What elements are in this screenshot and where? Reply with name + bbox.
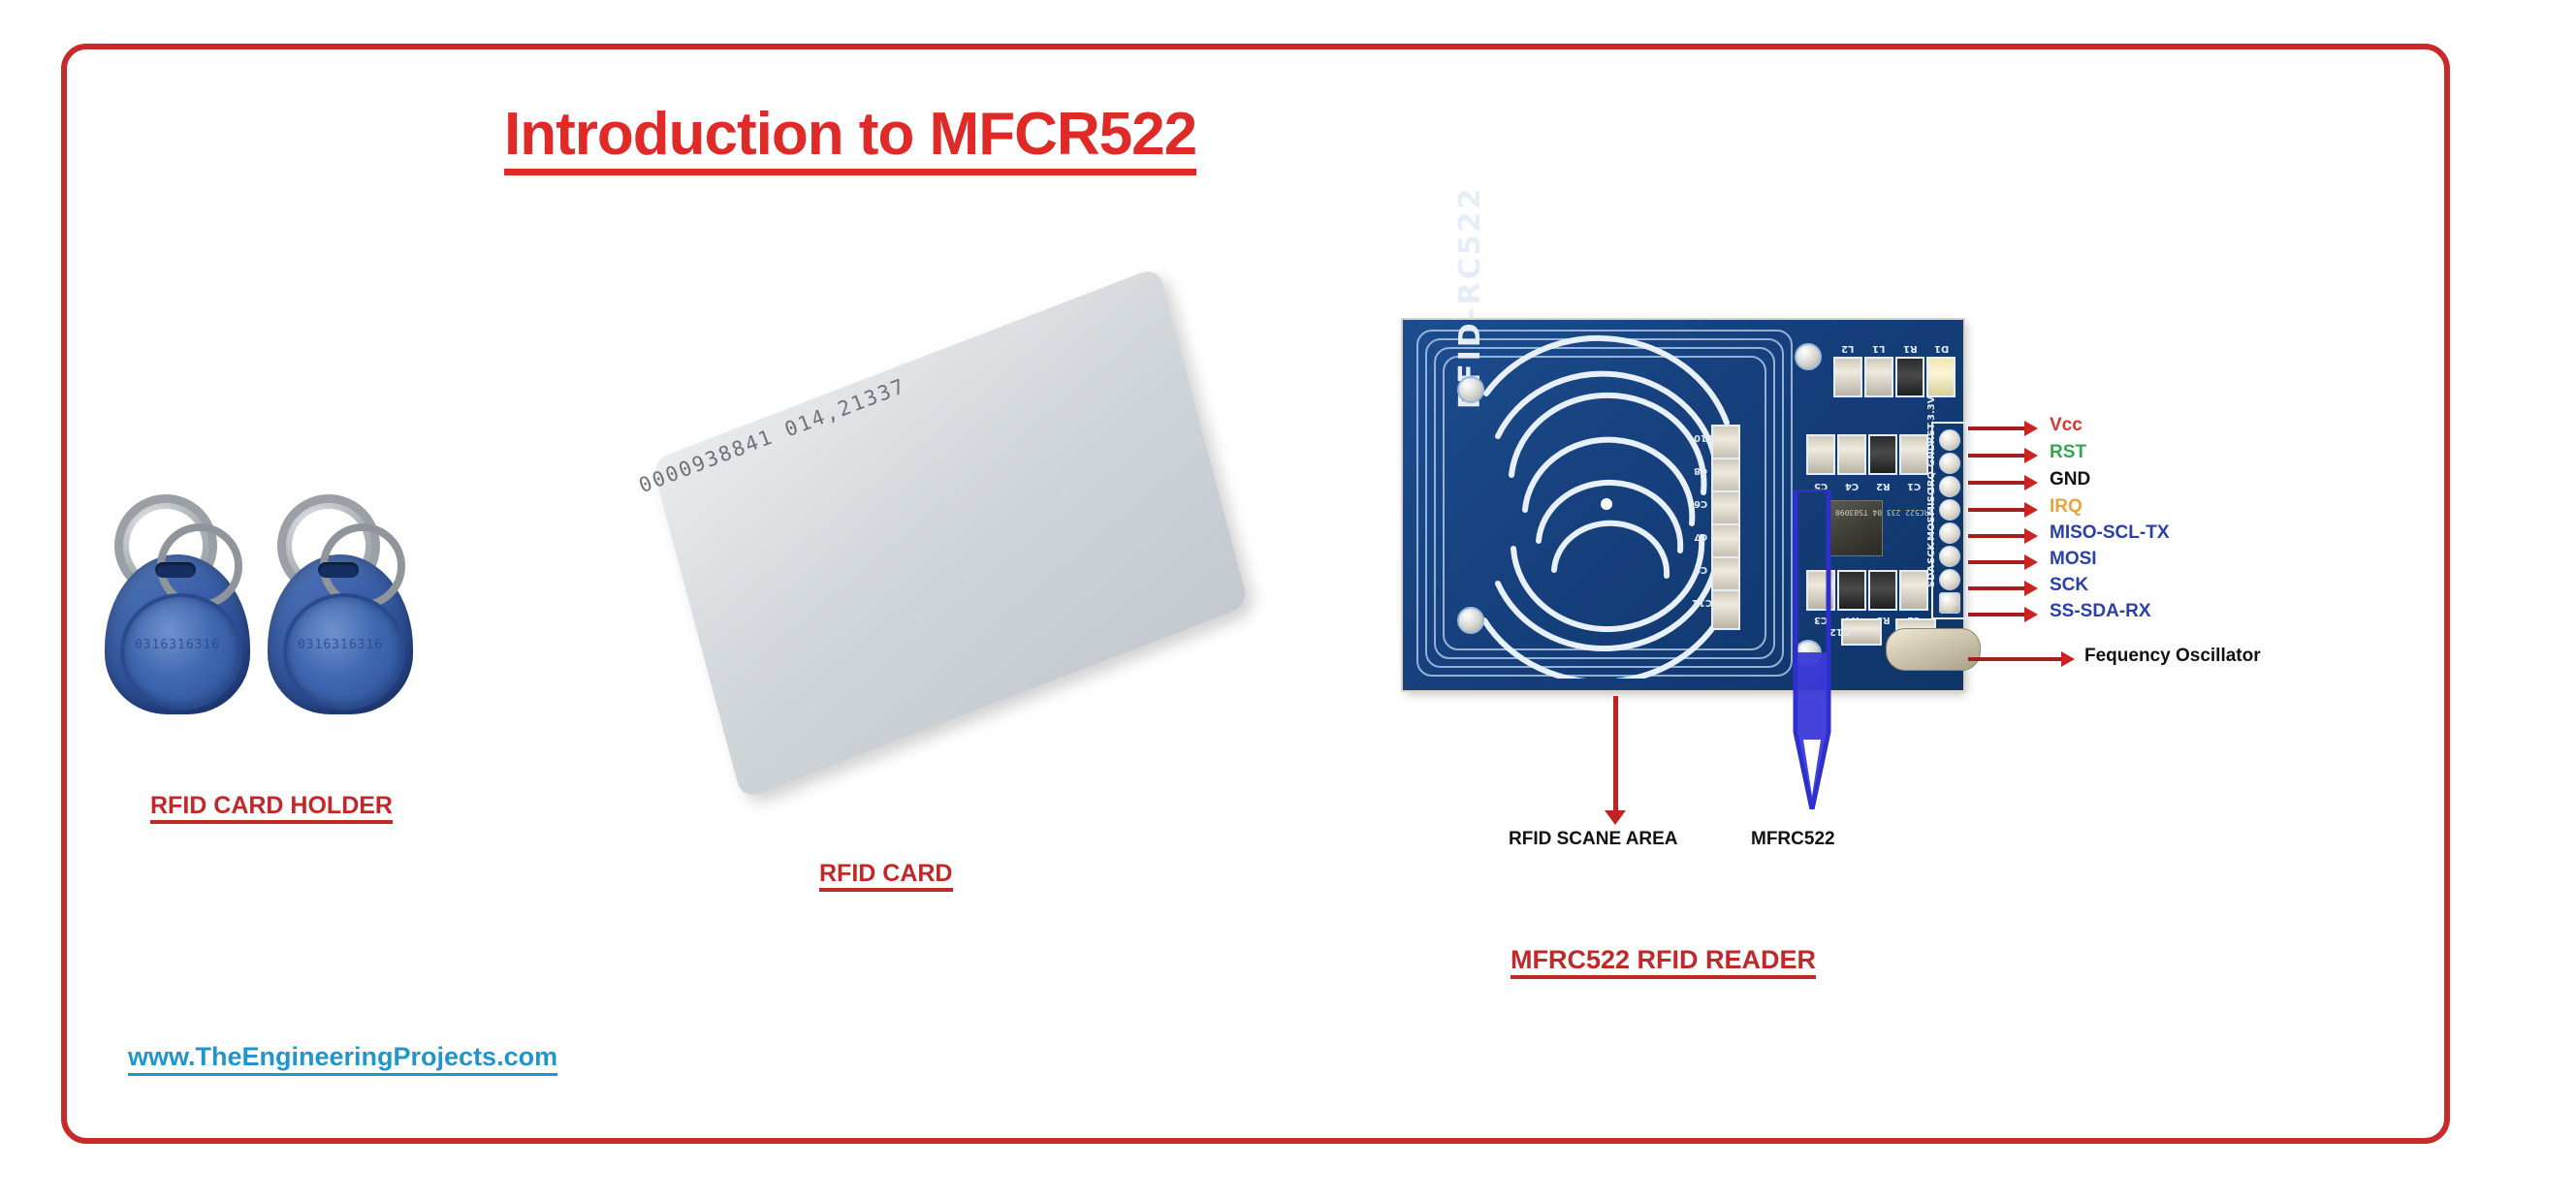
pin-pad-7 [1939, 569, 1960, 590]
smd-component [1711, 589, 1740, 630]
rc522-chip: RC522 233 04 TS03090 [1829, 500, 1883, 556]
pin-label-ss-sda-rx: SS-SDA-RX [2050, 601, 2151, 622]
pin-pad-8 [1939, 592, 1960, 614]
label-frequency-oscillator: Fequency Oscillator [2084, 646, 2261, 667]
mfrc522-module-image: RFID-RC522 C10 C8 C6 C7 C9 C11 L2 L1 R1 … [1403, 320, 1963, 690]
page-title: Introduction to MFCR522 [504, 105, 1196, 175]
silk-l2: L2 [1841, 343, 1854, 354]
pin-pad-3 [1939, 476, 1960, 497]
fob-hole [318, 562, 359, 578]
silk-gnd: GND [1926, 443, 1937, 467]
smd-l1 [1864, 357, 1893, 397]
smd-r4 [1837, 570, 1866, 611]
chip-marking: RC522 233 04 TS03090 [1835, 507, 1928, 517]
pin-pad-6 [1939, 546, 1960, 567]
fob-serial: 0316316316 [124, 638, 231, 652]
silk-c1: C1 [1907, 481, 1921, 491]
key-fob-1: 0316316316 [97, 494, 252, 717]
smd-r2 [1868, 434, 1897, 475]
mfrc522-pointer [1790, 490, 1834, 809]
silk-r1: R1 [1903, 343, 1918, 354]
silk-3v3: 3.3V [1926, 396, 1937, 421]
silk-c10: C10 [1694, 432, 1714, 443]
silk-mosi: MOSI [1926, 513, 1937, 541]
scan-area-arrow [1613, 696, 1618, 812]
pin-label-vcc: Vcc [2050, 415, 2083, 436]
smd-r3 [1868, 570, 1897, 611]
fob-serial: 0316316316 [287, 638, 394, 652]
silk-c6: C6 [1694, 498, 1707, 509]
caption-mfrc522-rfid-reader: MFRC522 RFID READER [1511, 946, 1816, 979]
silk-l1: L1 [1872, 343, 1885, 354]
smd-c1 [1899, 434, 1928, 475]
fob-hole [155, 562, 196, 578]
smd-c4 [1837, 434, 1866, 475]
silk-miso: MISO [1926, 488, 1937, 516]
mounting-pad [1457, 607, 1484, 634]
silk-d1: D1 [1934, 343, 1949, 354]
label-rfid-scan-area: RFID SCANE AREA [1509, 829, 1678, 850]
pin-pad-4 [1939, 499, 1960, 521]
smd-r1 [1895, 357, 1924, 397]
mounting-pad [1795, 343, 1822, 370]
smd-c5 [1806, 434, 1835, 475]
pin-label-mosi: MOSI [2050, 549, 2097, 570]
silk-c7: C7 [1694, 531, 1707, 542]
pin-label-rst: RST [2050, 442, 2086, 463]
silk-c8: C8 [1694, 465, 1707, 476]
silk-sda: SDA [1926, 565, 1937, 587]
pin-pad-1 [1939, 429, 1960, 451]
silk-rst: RST [1926, 423, 1937, 444]
crystal-oscillator [1886, 628, 1981, 671]
silk-r2: R2 [1876, 481, 1891, 491]
mounting-pad [1457, 376, 1484, 403]
rfid-card-body [652, 267, 1249, 800]
key-fob-2: 0316316316 [260, 494, 415, 717]
smd-c2 [1899, 570, 1928, 611]
rfid-key-fobs-image: 0316316316 0316316316 [97, 456, 417, 746]
caption-rfid-card: RFID CARD [819, 861, 953, 892]
label-mfrc522-pointer: MFRC522 [1751, 829, 1835, 850]
silk-sck: SCK [1926, 543, 1937, 564]
pin-pad-5 [1939, 522, 1960, 544]
pin-label-miso: MISO-SCL-TX [2050, 522, 2170, 544]
rfid-card-image [620, 320, 1299, 814]
pin-label-gnd: GND [2050, 469, 2090, 490]
pin-label-irq: IRQ [2050, 496, 2083, 518]
caption-rfid-card-holder: RFID CARD HOLDER [150, 793, 393, 824]
silk-c4: C4 [1845, 481, 1859, 491]
silk-c11: C11 [1692, 597, 1712, 608]
footer-website-link[interactable]: www.TheEngineeringProjects.com [128, 1042, 557, 1076]
pin-label-sck: SCK [2050, 575, 2088, 596]
smd-d1-led [1926, 357, 1956, 397]
silk-c9: C9 [1694, 564, 1707, 575]
pin-pad-2 [1939, 453, 1960, 474]
smd-l2 [1833, 357, 1862, 397]
